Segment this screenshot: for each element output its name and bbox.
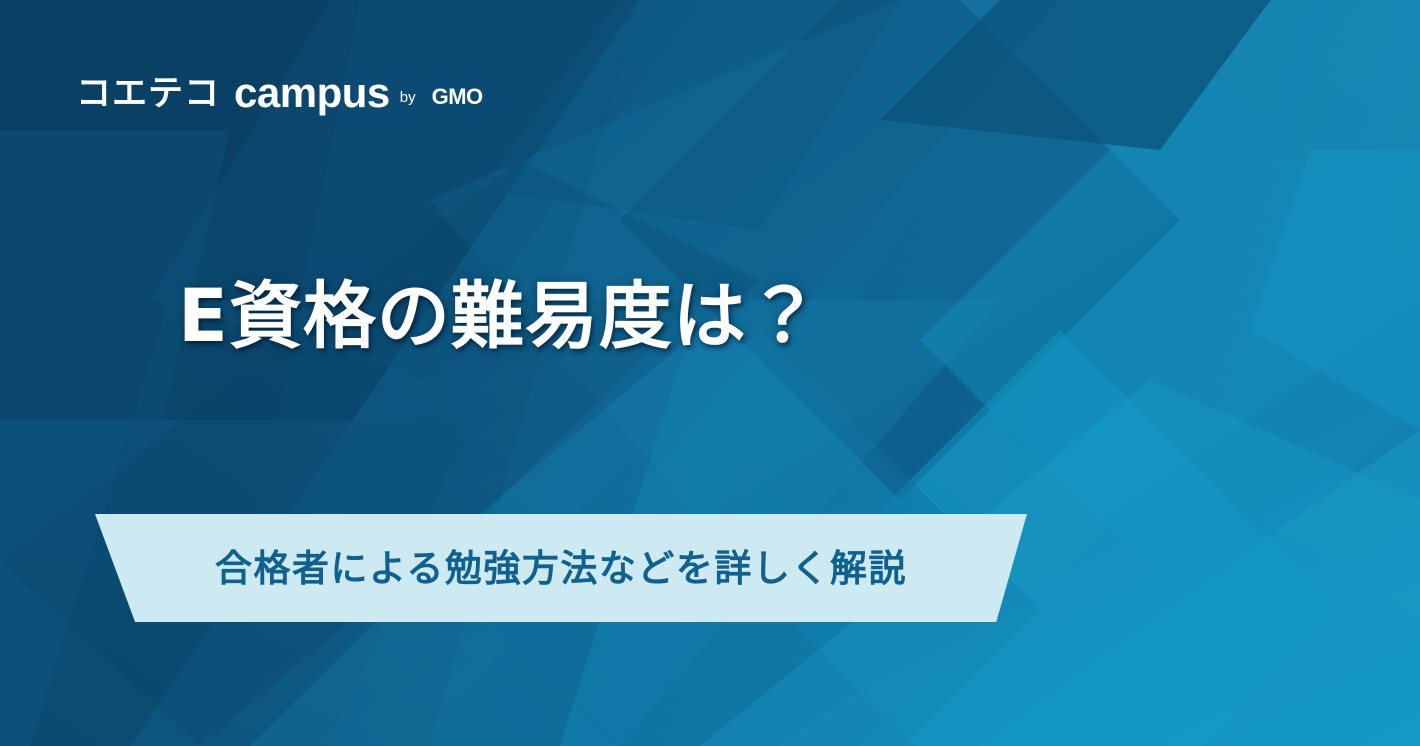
page-title: E資格の難易度は？ <box>178 276 821 358</box>
logo-by-text: by <box>400 90 416 105</box>
subtitle-ribbon: 合格者による勉強方法などを詳しく解説 <box>95 514 1027 622</box>
logo-campus-text: campus <box>234 72 390 114</box>
logo-gmo-text: GMO <box>432 86 483 108</box>
brand-logo[interactable]: コエテコ campus by GMO <box>76 70 485 112</box>
hero-banner: コエテコ campus by GMO E資格の難易度は？ 合格者による勉強方法な… <box>0 0 1420 746</box>
logo-katakana-text: コエテコ <box>76 77 220 112</box>
subtitle-text: 合格者による勉強方法などを詳しく解説 <box>215 550 907 587</box>
